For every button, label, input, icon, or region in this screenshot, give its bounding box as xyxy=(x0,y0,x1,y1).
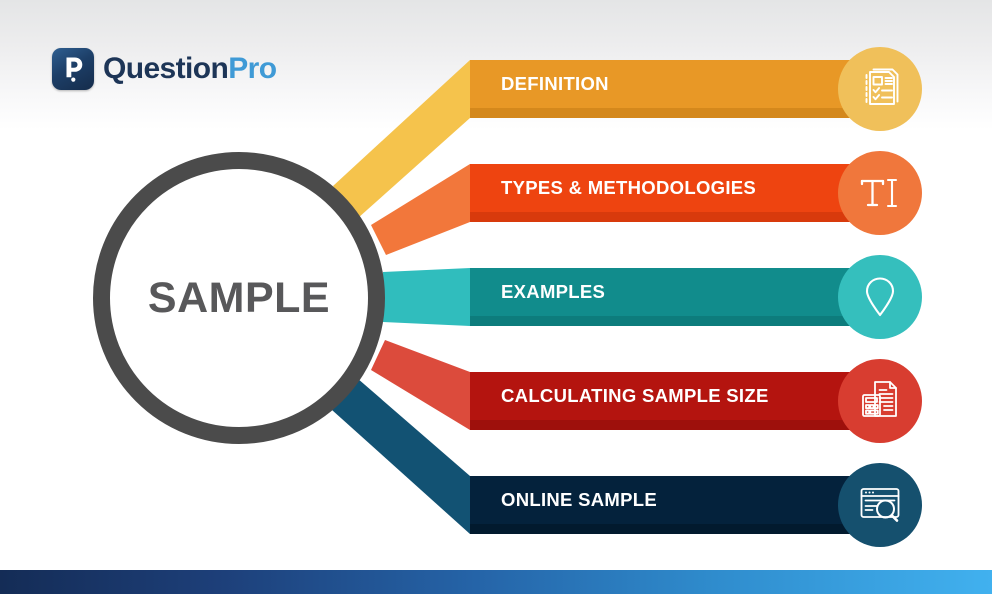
branch-badge[interactable] xyxy=(838,255,922,339)
hub-circle: SAMPLE xyxy=(93,152,385,444)
checklist-document-icon xyxy=(857,66,903,112)
bar-shadow xyxy=(470,108,881,118)
browser-search-icon xyxy=(857,482,903,528)
bar-shadow xyxy=(470,420,881,430)
bar-shadow xyxy=(470,524,881,534)
bar-shadow xyxy=(470,212,881,222)
branch-badge[interactable] xyxy=(838,359,922,443)
branch-bar[interactable]: CALCULATING SAMPLE SIZE xyxy=(470,372,881,420)
hub-label: SAMPLE xyxy=(148,277,330,320)
location-pin-icon xyxy=(857,274,903,320)
branch-bar[interactable]: TYPES & METHODOLOGIES xyxy=(470,164,881,212)
text-cursor-icon xyxy=(857,170,903,216)
branch-label: DEFINITION xyxy=(470,75,609,94)
bar-shadow xyxy=(470,316,881,326)
branch-label: EXAMPLES xyxy=(470,283,605,302)
infographic-canvas: QuestionPro SAMPLE DEFINITION xyxy=(0,0,992,594)
branch-bar[interactable]: EXAMPLES xyxy=(470,268,881,316)
branch-bar[interactable]: ONLINE SAMPLE xyxy=(470,476,881,524)
branch-label: CALCULATING SAMPLE SIZE xyxy=(470,387,769,406)
branch-bar[interactable]: DEFINITION xyxy=(470,60,881,108)
branch-label: ONLINE SAMPLE xyxy=(470,491,657,510)
branch-label: TYPES & METHODOLOGIES xyxy=(470,179,756,198)
branch-badge[interactable] xyxy=(838,463,922,547)
calculator-invoice-icon xyxy=(857,378,903,424)
connector-3 xyxy=(383,268,470,326)
branch-badge[interactable] xyxy=(838,151,922,235)
branch-badge[interactable] xyxy=(838,47,922,131)
